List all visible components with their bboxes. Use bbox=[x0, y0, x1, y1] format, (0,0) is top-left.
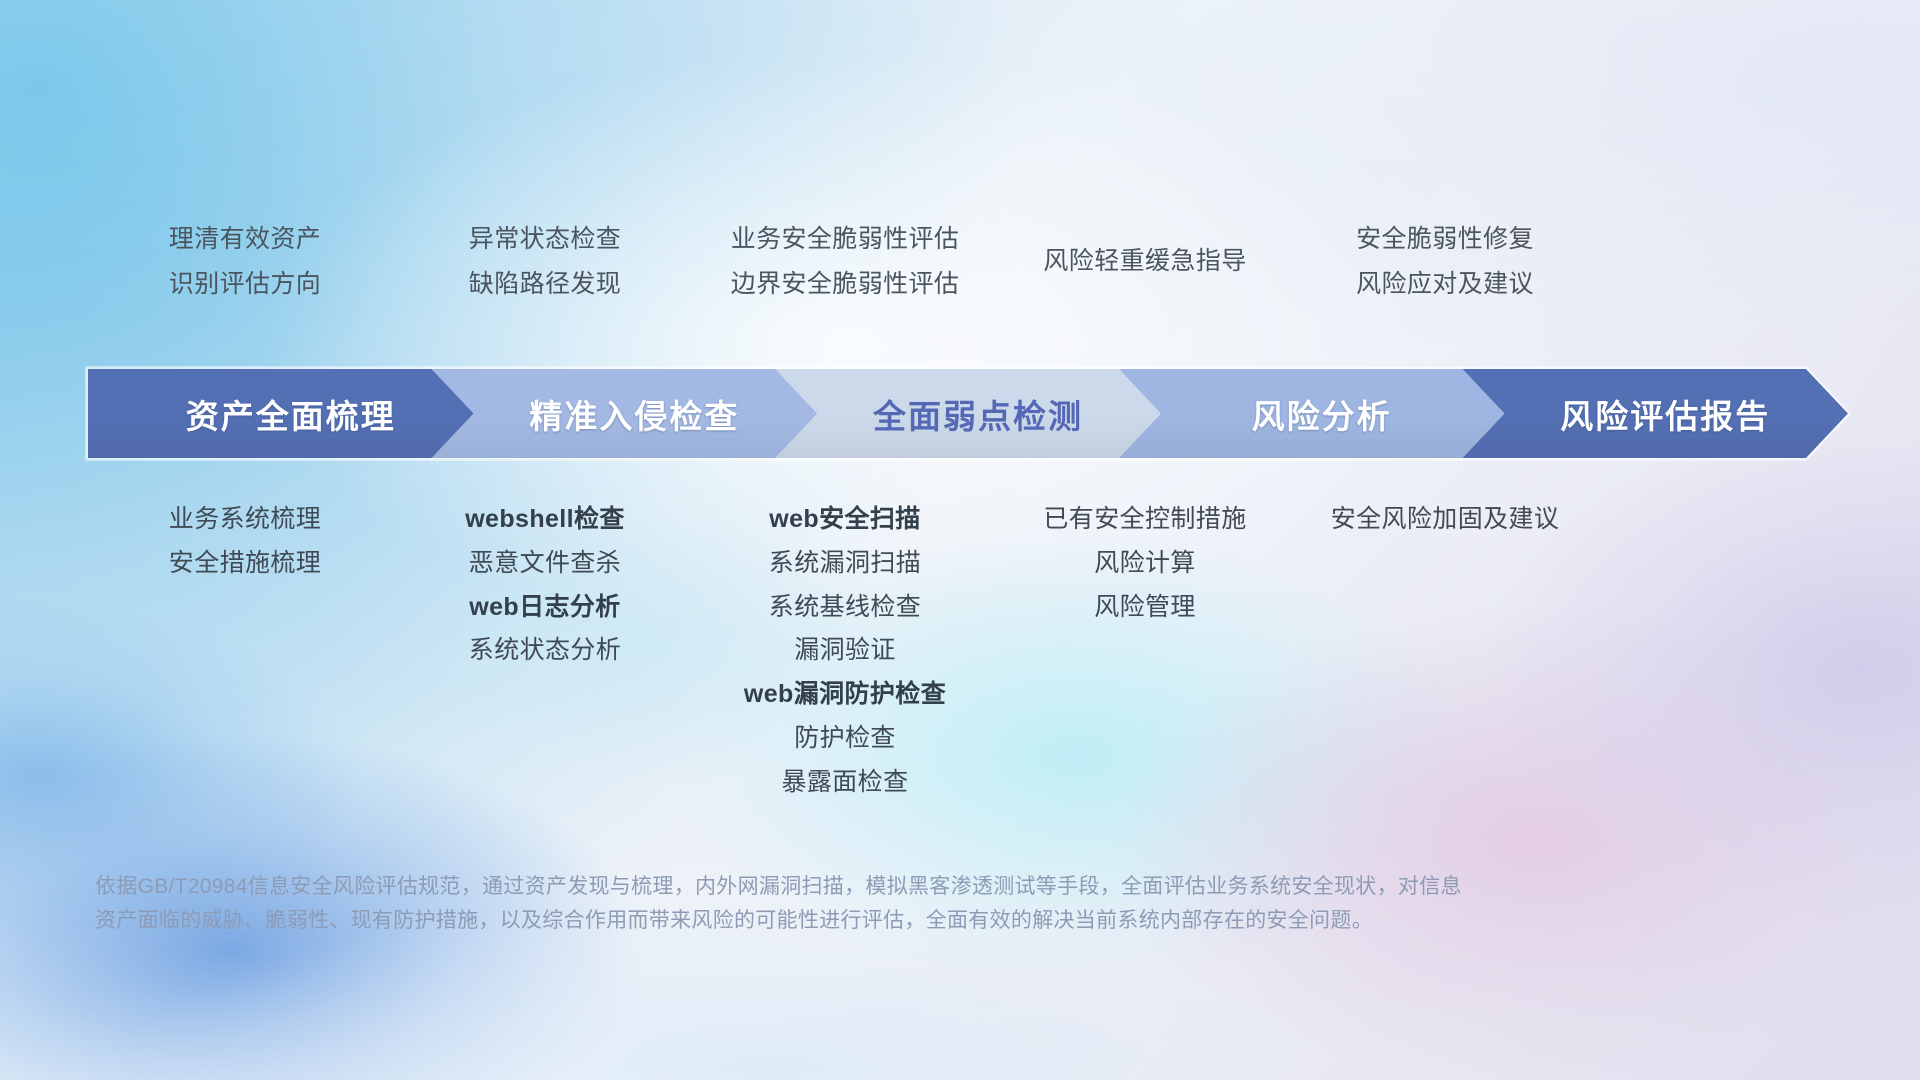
list-item: 已有安全控制措施 bbox=[1043, 505, 1246, 534]
chevron-stage-risk-analysis[interactable]: 风险分析 bbox=[1119, 369, 1505, 458]
items-intrusion-check: webshell检查恶意文件查杀web日志分析系统状态分析 bbox=[395, 505, 695, 805]
footer-description: 依据GB/T20984信息安全风险评估规范，通过资产发现与梳理，内外网漏洞扫描，… bbox=[95, 870, 1625, 938]
items-weakness-detection: web安全扫描系统漏洞扫描系统基线检查漏洞验证web漏洞防护检查防护检查暴露面检… bbox=[695, 505, 995, 805]
list-item: 系统状态分析 bbox=[469, 636, 621, 665]
list-item: 暴露面检查 bbox=[781, 768, 908, 797]
top-notes-risk-report: 安全脆弱性修复风险应对及建议 bbox=[1295, 225, 1595, 320]
note-text: 理清有效资产 bbox=[169, 225, 321, 254]
list-item: webshell检查 bbox=[465, 505, 625, 534]
list-item: 漏洞验证 bbox=[794, 636, 896, 665]
slide-canvas: 理清有效资产识别评估方向异常状态检查缺陷路径发现业务安全脆弱性评估边界安全脆弱性… bbox=[0, 0, 1920, 1080]
items-risk-report: 安全风险加固及建议 bbox=[1295, 505, 1595, 805]
chevron-label: 全面弱点检测 bbox=[873, 390, 1083, 438]
note-text: 边界安全脆弱性评估 bbox=[731, 270, 960, 299]
note-text: 风险轻重缓急指导 bbox=[1043, 247, 1246, 276]
list-item: web日志分析 bbox=[469, 593, 620, 622]
chevron-label: 风险分析 bbox=[1252, 390, 1392, 438]
list-item: 系统漏洞扫描 bbox=[769, 549, 921, 578]
top-notes-risk-analysis: 风险轻重缓急指导 bbox=[995, 225, 1295, 320]
list-item: 风险计算 bbox=[1094, 549, 1196, 578]
list-item: 恶意文件查杀 bbox=[469, 549, 621, 578]
chevron-stage-risk-report[interactable]: 风险评估报告 bbox=[1462, 369, 1848, 458]
note-text: 识别评估方向 bbox=[169, 270, 321, 299]
note-text: 风险应对及建议 bbox=[1356, 270, 1534, 299]
top-notes-weakness-detection: 业务安全脆弱性评估边界安全脆弱性评估 bbox=[695, 225, 995, 320]
list-item: web安全扫描 bbox=[769, 505, 920, 534]
list-item: web漏洞防护检查 bbox=[744, 680, 946, 709]
list-item: 防护检查 bbox=[794, 724, 896, 753]
chevron-stage-weakness-detection[interactable]: 全面弱点检测 bbox=[775, 369, 1161, 458]
chevron-label: 风险评估报告 bbox=[1560, 390, 1770, 438]
note-text: 异常状态检查 bbox=[469, 225, 621, 254]
chevron-stage-asset-inventory[interactable]: 资产全面梳理 bbox=[88, 369, 474, 458]
list-item: 系统基线检查 bbox=[769, 593, 921, 622]
diagram-content: 理清有效资产识别评估方向异常状态检查缺陷路径发现业务安全脆弱性评估边界安全脆弱性… bbox=[0, 0, 1920, 1080]
items-risk-analysis: 已有安全控制措施风险计算风险管理 bbox=[995, 505, 1295, 805]
note-text: 安全脆弱性修复 bbox=[1356, 225, 1534, 254]
items-asset-inventory: 业务系统梳理安全措施梳理 bbox=[95, 505, 395, 805]
footer-line-2: 资产面临的威胁、脆弱性、现有防护措施，以及综合作用而带来风险的可能性进行评估，全… bbox=[95, 904, 1625, 938]
chevron-label: 精准入侵检查 bbox=[529, 390, 739, 438]
list-item: 安全措施梳理 bbox=[169, 549, 321, 578]
top-notes-asset-inventory: 理清有效资产识别评估方向 bbox=[95, 225, 395, 320]
bottom-items-row: 业务系统梳理安全措施梳理webshell检查恶意文件查杀web日志分析系统状态分… bbox=[95, 505, 1845, 805]
note-text: 业务安全脆弱性评估 bbox=[731, 225, 960, 254]
chevron-label: 资产全面梳理 bbox=[186, 390, 396, 438]
list-item: 安全风险加固及建议 bbox=[1331, 505, 1560, 534]
note-text: 缺陷路径发现 bbox=[469, 270, 621, 299]
top-notes-intrusion-check: 异常状态检查缺陷路径发现 bbox=[395, 225, 695, 320]
chevron-stage-intrusion-check[interactable]: 精准入侵检查 bbox=[432, 369, 818, 458]
list-item: 风险管理 bbox=[1094, 593, 1196, 622]
footer-line-1: 依据GB/T20984信息安全风险评估规范，通过资产发现与梳理，内外网漏洞扫描，… bbox=[95, 870, 1625, 904]
process-chevron-band: 资产全面梳理精准入侵检查全面弱点检测风险分析风险评估报告 bbox=[88, 369, 1848, 458]
top-notes-row: 理清有效资产识别评估方向异常状态检查缺陷路径发现业务安全脆弱性评估边界安全脆弱性… bbox=[95, 225, 1845, 320]
list-item: 业务系统梳理 bbox=[169, 505, 321, 534]
